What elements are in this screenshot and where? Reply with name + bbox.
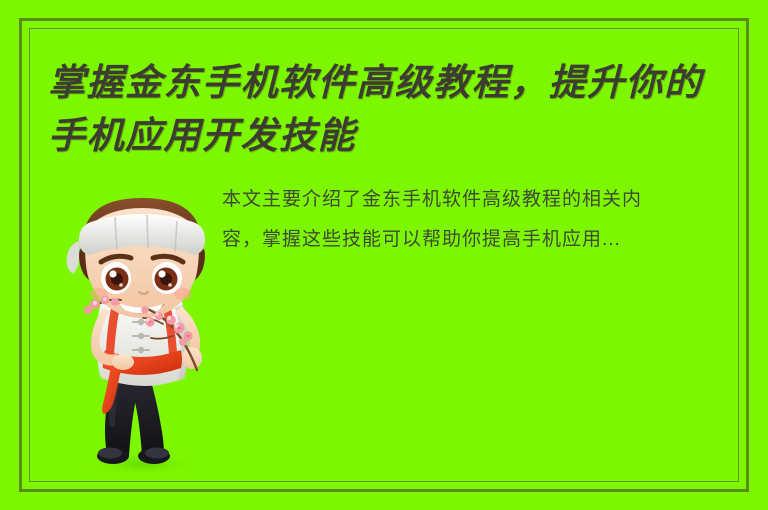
article-banner: 掌握金东手机软件高级教程，提升你的手机应用开发技能 本文主要介绍了金东手机软件高…	[0, 0, 768, 510]
chibi-character-illustration	[55, 190, 230, 480]
page-title: 掌握金东手机软件高级教程，提升你的手机应用开发技能	[48, 56, 720, 161]
article-summary: 本文主要介绍了金东手机软件高级教程的相关内容，掌握这些技能可以帮助你提高手机应用…	[222, 180, 642, 261]
character-head	[67, 198, 205, 318]
